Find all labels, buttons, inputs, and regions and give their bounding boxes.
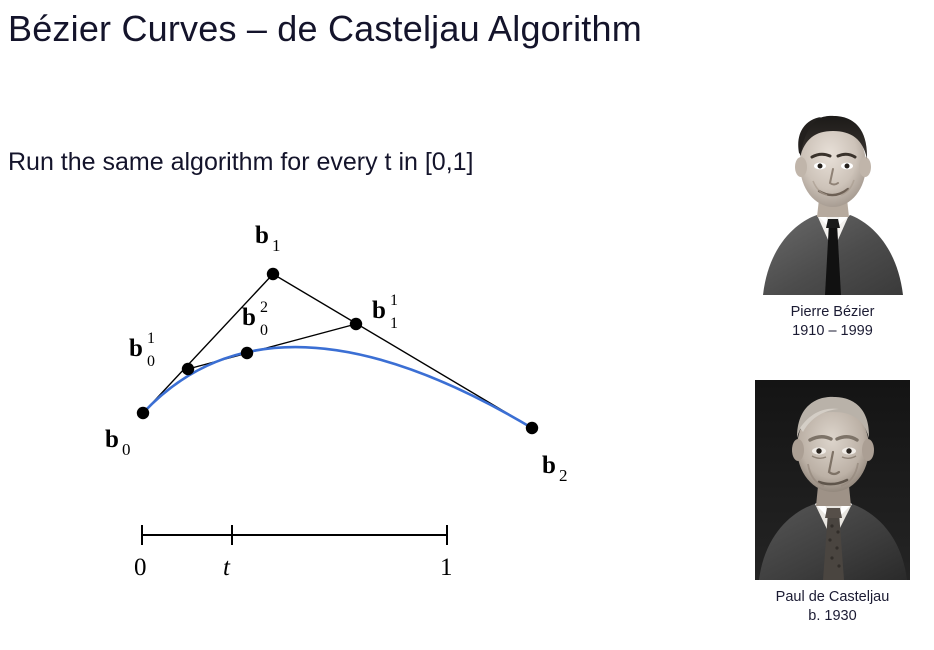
label-b0-1: b 1 0 (129, 330, 155, 370)
label-b1-1: b 1 1 (372, 292, 398, 332)
label-b0-base: b (105, 426, 119, 453)
point-b0 (137, 407, 149, 419)
label-b1-1-base: b (372, 297, 386, 324)
bezier-diagram-svg: b 1 b 1 0 b 2 0 b 1 1 b 0 b 2 (0, 195, 660, 595)
t-axis-label-0: 0 (134, 554, 147, 581)
portrait-pierre-bezier (755, 95, 910, 295)
caption-pierre-bezier: Pierre Bézier 1910 – 1999 (735, 303, 930, 341)
label-b0-2-superscript: 2 (260, 299, 268, 316)
point-b0-2 (241, 347, 253, 359)
portrait-paul-de-casteljau (755, 380, 910, 580)
label-b1-subscript: 1 (272, 236, 281, 255)
point-b1 (267, 268, 279, 280)
label-b0-1-superscript: 1 (147, 330, 155, 347)
person-name-bezier: Pierre Bézier (791, 304, 875, 320)
t-axis: 0 t 1 (134, 525, 453, 581)
label-b0-1-subscript: 0 (147, 353, 155, 370)
label-b1: b 1 (255, 222, 281, 255)
label-b2: b 2 (542, 452, 568, 485)
slide-subtitle: Run the same algorithm for every t in [0… (8, 148, 474, 177)
label-b0-2: b 2 0 (242, 299, 268, 339)
bezier-figure: b 1 b 1 0 b 2 0 b 1 1 b 0 b 2 (0, 195, 660, 595)
portrait-pierre-bezier-image (755, 95, 910, 295)
label-b0-1-base: b (129, 335, 143, 362)
label-b0-2-subscript: 0 (260, 322, 268, 339)
label-b2-base: b (542, 452, 556, 479)
person-name-casteljau: Paul de Casteljau (776, 589, 890, 605)
point-b1-1 (350, 318, 362, 330)
bezier-curve (143, 347, 532, 428)
label-b1-1-subscript: 1 (390, 315, 398, 332)
person-dates-bezier: 1910 – 1999 (735, 322, 930, 341)
label-b0-subscript: 0 (122, 440, 131, 459)
label-b2-subscript: 2 (559, 466, 568, 485)
label-b1-1-superscript: 1 (390, 292, 398, 309)
page-title: Bézier Curves – de Casteljau Algorithm (8, 8, 642, 50)
point-b0-1 (182, 363, 194, 375)
t-axis-label-t: t (223, 554, 231, 581)
point-b2 (526, 422, 538, 434)
t-axis-label-1: 1 (440, 554, 453, 581)
person-card-casteljau: Paul de Casteljau b. 1930 (735, 380, 930, 626)
label-b0-2-base: b (242, 304, 256, 331)
caption-paul-de-casteljau: Paul de Casteljau b. 1930 (735, 588, 930, 626)
label-b1-base: b (255, 222, 269, 249)
person-card-bezier: Pierre Bézier 1910 – 1999 (735, 95, 930, 341)
label-b0: b 0 (105, 426, 131, 459)
person-dates-casteljau: b. 1930 (735, 607, 930, 626)
portrait-paul-de-casteljau-image (755, 380, 910, 580)
